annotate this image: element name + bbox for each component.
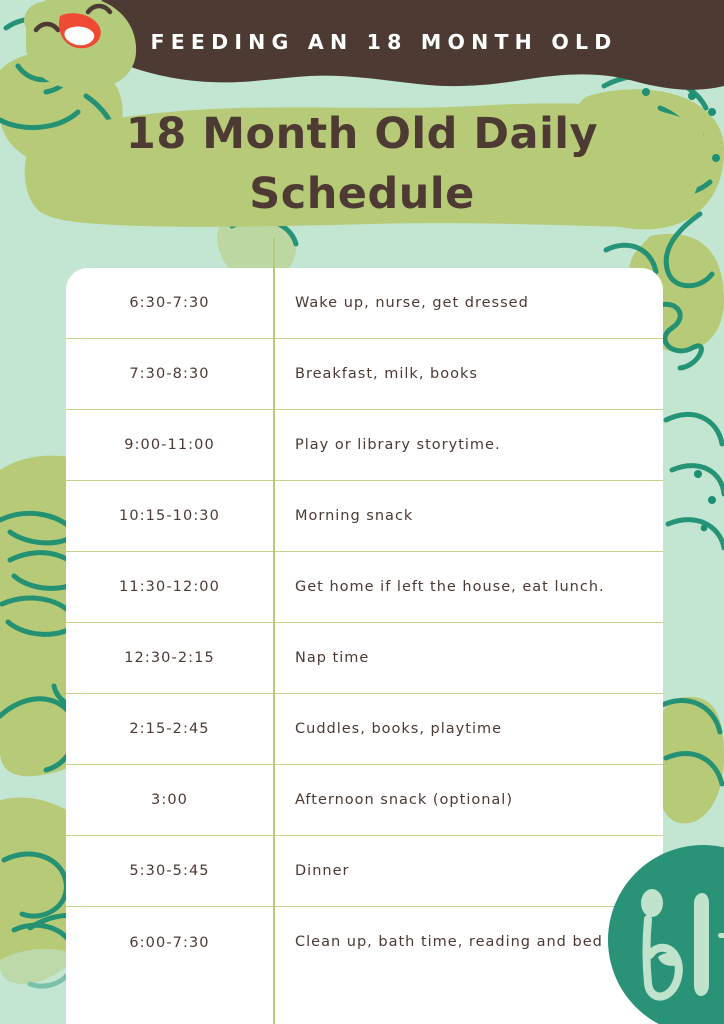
table-row: 5:30-5:45Dinner (66, 836, 663, 907)
schedule-activity-cell: Get home if left the house, eat lunch. (273, 574, 663, 601)
schedule-time-cell: 6:30-7:30 (66, 295, 273, 311)
schedule-time-cell: 5:30-5:45 (66, 863, 273, 879)
schedule-time-cell: 6:00-7:30 (66, 935, 273, 951)
table-row: 11:30-12:00Get home if left the house, e… (66, 552, 663, 623)
schedule-time-cell: 3:00 (66, 792, 273, 808)
schedule-activity-cell: Morning snack (273, 503, 663, 530)
table-row: 12:30-2:15Nap time (66, 623, 663, 694)
schedule-activity-cell: Dinner (273, 858, 663, 885)
schedule-time-cell: 2:15-2:45 (66, 721, 273, 737)
schedule-time-cell: 12:30-2:15 (66, 650, 273, 666)
table-row: 3:00Afternoon snack (optional) (66, 765, 663, 836)
schedule-activity-cell: Wake up, nurse, get dressed (273, 290, 663, 317)
schedule-activity-cell: Play or library storytime. (273, 432, 663, 459)
schedule-table: 6:30-7:30Wake up, nurse, get dressed7:30… (66, 268, 663, 1024)
schedule-time-cell: 9:00-11:00 (66, 437, 273, 453)
schedule-activity-cell: Clean up, bath time, reading and bed (273, 929, 663, 956)
schedule-activity-cell: Cuddles, books, playtime (273, 716, 663, 743)
table-row: 7:30-8:30Breakfast, milk, books (66, 339, 663, 410)
table-row: 10:15-10:30Morning snack (66, 481, 663, 552)
blt-logo[interactable] (608, 845, 724, 1024)
schedule-time-cell: 11:30-12:00 (66, 579, 273, 595)
table-column-divider (273, 238, 275, 1024)
schedule-time-cell: 10:15-10:30 (66, 508, 273, 524)
poster-canvas: FEEDING AN 18 MONTH OLD 18 Month Old Dai… (0, 0, 724, 1024)
table-row: 6:30-7:30Wake up, nurse, get dressed (66, 268, 663, 339)
frog-mascot-icon (2, 0, 172, 114)
schedule-time-cell: 7:30-8:30 (66, 366, 273, 382)
schedule-activity-cell: Nap time (273, 645, 663, 672)
schedule-activity-cell: Afternoon snack (optional) (273, 787, 663, 814)
page-title: 18 Month Old Daily Schedule (30, 104, 694, 224)
table-row: 9:00-11:00Play or library storytime. (66, 410, 663, 481)
table-row: 2:15-2:45Cuddles, books, playtime (66, 694, 663, 765)
page-title-line-2: Schedule (30, 164, 694, 224)
table-row: 6:00-7:30Clean up, bath time, reading an… (66, 907, 663, 978)
schedule-activity-cell: Breakfast, milk, books (273, 361, 663, 388)
